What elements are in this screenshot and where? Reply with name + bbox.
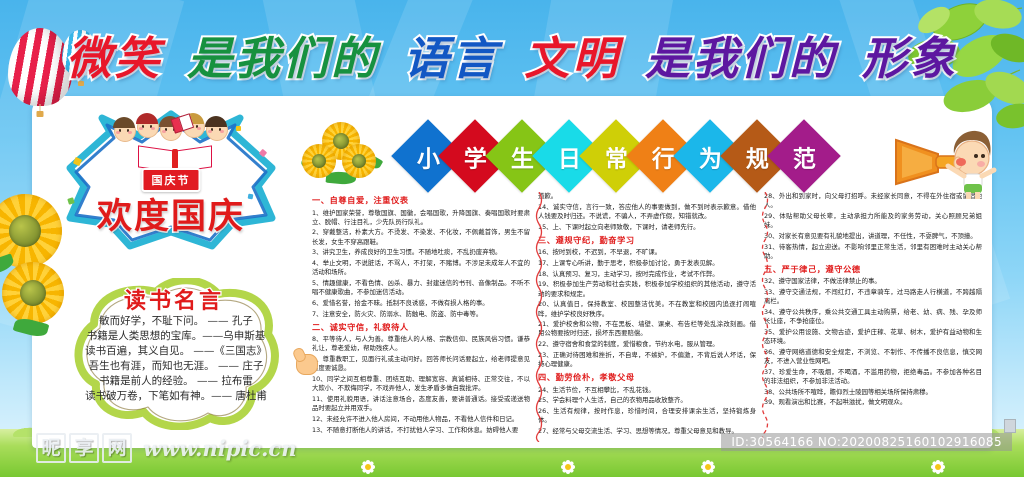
rules-item: 2、穿戴整洁，朴素大方。不烫发、不染发、不化妆，不佩戴首饰，男生不留长发，女生不… xyxy=(312,228,530,246)
reading-quotes-box: 读书名言 敏而好学，不耻下问。 —— 孔子 书籍是人类思想的宝库。——乌申斯基 … xyxy=(60,278,288,430)
title-diamond-char: 学 xyxy=(464,139,487,173)
rules-item: 20、认真值日，保持教室、校园整洁优美。不在教室和校园内追逐打闹喧哗，维护学校良… xyxy=(538,300,756,318)
title-diamond-char: 规 xyxy=(746,139,769,173)
rules-item: 17、上课专心听讲，勤于思考，积极参加讨论，勇于发表见解。 xyxy=(538,259,756,268)
rules-item: 34、遵守公共秩序，乘公共交通工具主动购票，给老、幼、病、残、孕及师长让座，不争… xyxy=(764,308,982,326)
rules-item: 14、诚实守信，言行一致，答应他人的事要做到，做不到时表示歉意。借他人钱要及时归… xyxy=(538,203,756,221)
rules-item: 38、公共场所不喧哗，瞻仰烈士陵园等相关场所保持肃穆。 xyxy=(764,388,982,397)
watermark-logo-char: 网 xyxy=(102,433,132,463)
column-divider xyxy=(534,192,544,442)
rules-item: 道歉。 xyxy=(538,192,756,201)
watermark-url: www.nipic.cn xyxy=(143,436,297,461)
scrollbar-stub[interactable] xyxy=(1004,419,1016,433)
title-diamond-char: 行 xyxy=(652,139,675,173)
rules-item: 30、对家长有意见要有礼貌地提出，讲道理，不任性，不耍脾气，不顶撞。 xyxy=(764,232,982,241)
title-diamond-char: 日 xyxy=(558,139,581,173)
rules-item: 25、学会料理个人生活，自己的衣物用品收放整齐。 xyxy=(538,396,756,405)
rules-item: 19、积极参加生产劳动和社会实践，积极参加学校组织的其他活动，遵守活动的要求和规… xyxy=(538,280,756,298)
quote-line: 书籍是前人的经验。 —— 拉布雷 xyxy=(74,374,278,389)
title-diamond-char: 小 xyxy=(417,139,440,173)
title-segment: 是我们的 xyxy=(642,22,840,87)
rules-item: 7、注意安全，防火灾、防溺水、防触电、防盗、防中毒等。 xyxy=(312,310,530,319)
title-segment: 形象 xyxy=(859,22,961,87)
rules-section-heading: 三、遵规守纪，勤奋学习 xyxy=(538,235,756,246)
rules-item: 39、观看演出和比赛，不起哄滋扰，做文明观众。 xyxy=(764,398,982,407)
rules-item: 22、遵守宿舍和食堂的制度，爱惜粮食，节约水电，服从管理。 xyxy=(538,340,756,349)
rules-item: 31、待客热情，起立迎送。不影响邻里正常生活，邻里有困难时主动关心帮助。 xyxy=(764,243,982,261)
title-diamond-char: 范 xyxy=(793,139,816,173)
rules-section-heading: 五、严于律己，遵守公德 xyxy=(764,264,982,275)
rules-item: 16、按时到校，不迟到，不早退，不旷课。 xyxy=(538,248,756,257)
rules-column-3: 28、外出和到家时，向父母打招呼。未经家长同意，不得在外住宿或留宿他人。29、体… xyxy=(764,192,990,442)
rules-item: 24、生活节俭，不互相攀比，不乱花钱。 xyxy=(538,386,756,395)
rules-item: 13、不随意打断他人的讲话，不打扰他人学习、工作和休息。妨碍他人要 xyxy=(312,426,530,435)
page-title: 微笑 是我们的 语言 文明 是我们的 形象 xyxy=(0,22,1024,87)
rules-section-heading: 一、自尊自爱，注重仪表 xyxy=(312,195,530,206)
hand-sticker-icon xyxy=(296,348,318,374)
rules-item: 3、讲究卫生，养成良好的卫生习惯。不随地吐痰，不乱扔废弃物。 xyxy=(312,248,530,257)
section-title-diamonds: 小学生日常行为规范 xyxy=(402,128,825,184)
title-diamond-char: 为 xyxy=(699,139,722,173)
rules-section-heading: 二、诚实守信，礼貌待人 xyxy=(312,322,530,333)
quote-line: 敏而好学，不耻下问。 —— 孔子 xyxy=(74,314,278,329)
watermark-logo-char: 享 xyxy=(69,433,99,463)
sunflower-cluster-middle-icon xyxy=(298,122,384,186)
title-diamond-char: 生 xyxy=(511,139,534,173)
rules-item: 4、举止文明，不说脏话，不骂人，不打架，不赌博。不涉足未成年人不宜的活动和场所。 xyxy=(312,259,530,277)
rules-section-heading: 四、勤劳俭朴，孝敬父母 xyxy=(538,372,756,383)
rules-item: 10、同学之间互相尊重、团结互助、理解宽容、真诚相待、正常交往，不以大欺小、不欺… xyxy=(312,375,530,393)
watermark: 昵 享 网 www.nipic.cn xyxy=(36,433,297,463)
rules-item: 23、正确对待困难和挫折，不自卑，不嫉妒，不偏激，不背后说人坏话，保持心理健康。 xyxy=(538,351,756,369)
national-day-title: 欢度国庆 xyxy=(62,188,280,239)
watermark-logo: 昵 享 网 xyxy=(36,433,135,463)
rules-item: 36、遵守网络道德和安全规定，不浏览、不制作、不传播不良信息，慎交网友，不进入营… xyxy=(764,348,982,366)
confetti xyxy=(236,126,241,131)
rules-item: 21、爱护校舍和公物，不在黑板、墙壁、课桌、布告栏等处乱涂改刻画。借用公物要按时… xyxy=(538,320,756,338)
megaphone-boy-icon xyxy=(890,118,1002,200)
poster-canvas: 微笑 是我们的 语言 文明 是我们的 形象 xyxy=(0,0,1024,477)
quote-line: 书籍是人类思想的宝库。——乌申斯基 xyxy=(74,329,278,344)
rules-column-1: 一、自尊自爱，注重仪表1、维护国家荣誉，尊敬国旗、国徽，会唱国歌，升降国旗、奏唱… xyxy=(312,192,538,442)
rules-item: 11、使用礼貌用语，讲话注意场合，态度友善，要讲普通话。接受或递送物品时要起立并… xyxy=(312,395,530,413)
rules-item: 9、尊重教职工，见面行礼或主动问好。回答师长问话要起立，给老师提意见态度要诚恳。 xyxy=(312,355,530,373)
title-diamond-char: 常 xyxy=(605,139,628,173)
image-id-badge: ID:30564166 NO:20200825160102916085 xyxy=(721,433,1012,451)
rules-item: 37、珍爱生命，不吸烟，不喝酒，不滥用药物，拒绝毒品。不参加各种名目的非法组织，… xyxy=(764,368,982,386)
quote-list: 敏而好学，不耻下问。 —— 孔子 书籍是人类思想的宝库。——乌申斯基 读书百遍，… xyxy=(74,314,278,404)
title-segment: 文明 xyxy=(521,22,623,87)
rules-columns: 一、自尊自爱，注重仪表1、维护国家荣誉，尊敬国旗、国徽，会唱国歌，升降国旗、奏唱… xyxy=(312,192,990,442)
title-segment: 微笑 xyxy=(63,22,165,87)
rules-item: 12、未经允许不进入他人房间，不动用他人物品，不看他人信件和日记。 xyxy=(312,415,530,424)
column-divider xyxy=(760,192,770,442)
quote-line: 吾生也有涯，而知也无涯。 —— 庄子 xyxy=(74,359,278,374)
quote-line: 读书百遍，其义自见。 ——《三国志》 xyxy=(74,344,278,359)
rules-column-2: 道歉。14、诚实守信，言行一致，答应他人的事要做到，做不到时表示歉意。借他人钱要… xyxy=(538,192,764,442)
rules-item: 5、情趣健康，不看色情、凶杀、暴力、封建迷信的书刊、音像制品。不听不唱不健康歌曲… xyxy=(312,279,530,297)
rules-item: 1、维护国家荣誉，尊敬国旗、国徽，会唱国歌，升降国旗、奏唱国歌时要肃立、脱帽、行… xyxy=(312,209,530,227)
rules-item: 35、爱护公用设施、文物古迹，爱护庄稼、花草、树木，爱护有益动物和生态环境。 xyxy=(764,328,982,346)
watermark-logo-char: 昵 xyxy=(36,433,66,463)
rules-item: 8、平等待人，与人为善。尊重他人的人格、宗教信仰、民族风俗习惯。谦恭礼让，尊老爱… xyxy=(312,335,530,353)
rules-item: 33、遵守交通法规，不闯红灯，不违章骑车，过马路走人行横道，不跨越隔离栏。 xyxy=(764,288,982,306)
open-book-icon xyxy=(138,148,212,170)
title-segment: 语言 xyxy=(401,22,503,87)
rules-item: 6、爱惜名誉，拾金不昧。抵制不良诱惑，不做有损人格的事。 xyxy=(312,299,530,308)
quote-box-title: 读书名言 xyxy=(60,283,288,315)
national-day-banner: 国庆节 欢度国庆 xyxy=(62,106,280,256)
title-segment: 是我们的 xyxy=(184,22,382,87)
rules-item: 18、认真预习、复习，主动学习，按时完成作业，考试不作弊。 xyxy=(538,270,756,279)
quote-line: 读书破万卷，下笔如有神。—— 唐杜甫 xyxy=(74,389,278,404)
rules-item: 32、遵守国家法律，不做法律禁止的事。 xyxy=(764,277,982,286)
rules-item: 15、上、下课时起立向老师致敬，下课时，请老师先行。 xyxy=(538,223,756,232)
rules-item: 29、体贴帮助父母长辈，主动承担力所能及的家务劳动，关心照顾兄弟姐妹。 xyxy=(764,212,982,230)
rules-item: 26、生活有规律，按时作息，珍惜时间，合理安排课余生活，坚持锻炼身体。 xyxy=(538,407,756,425)
